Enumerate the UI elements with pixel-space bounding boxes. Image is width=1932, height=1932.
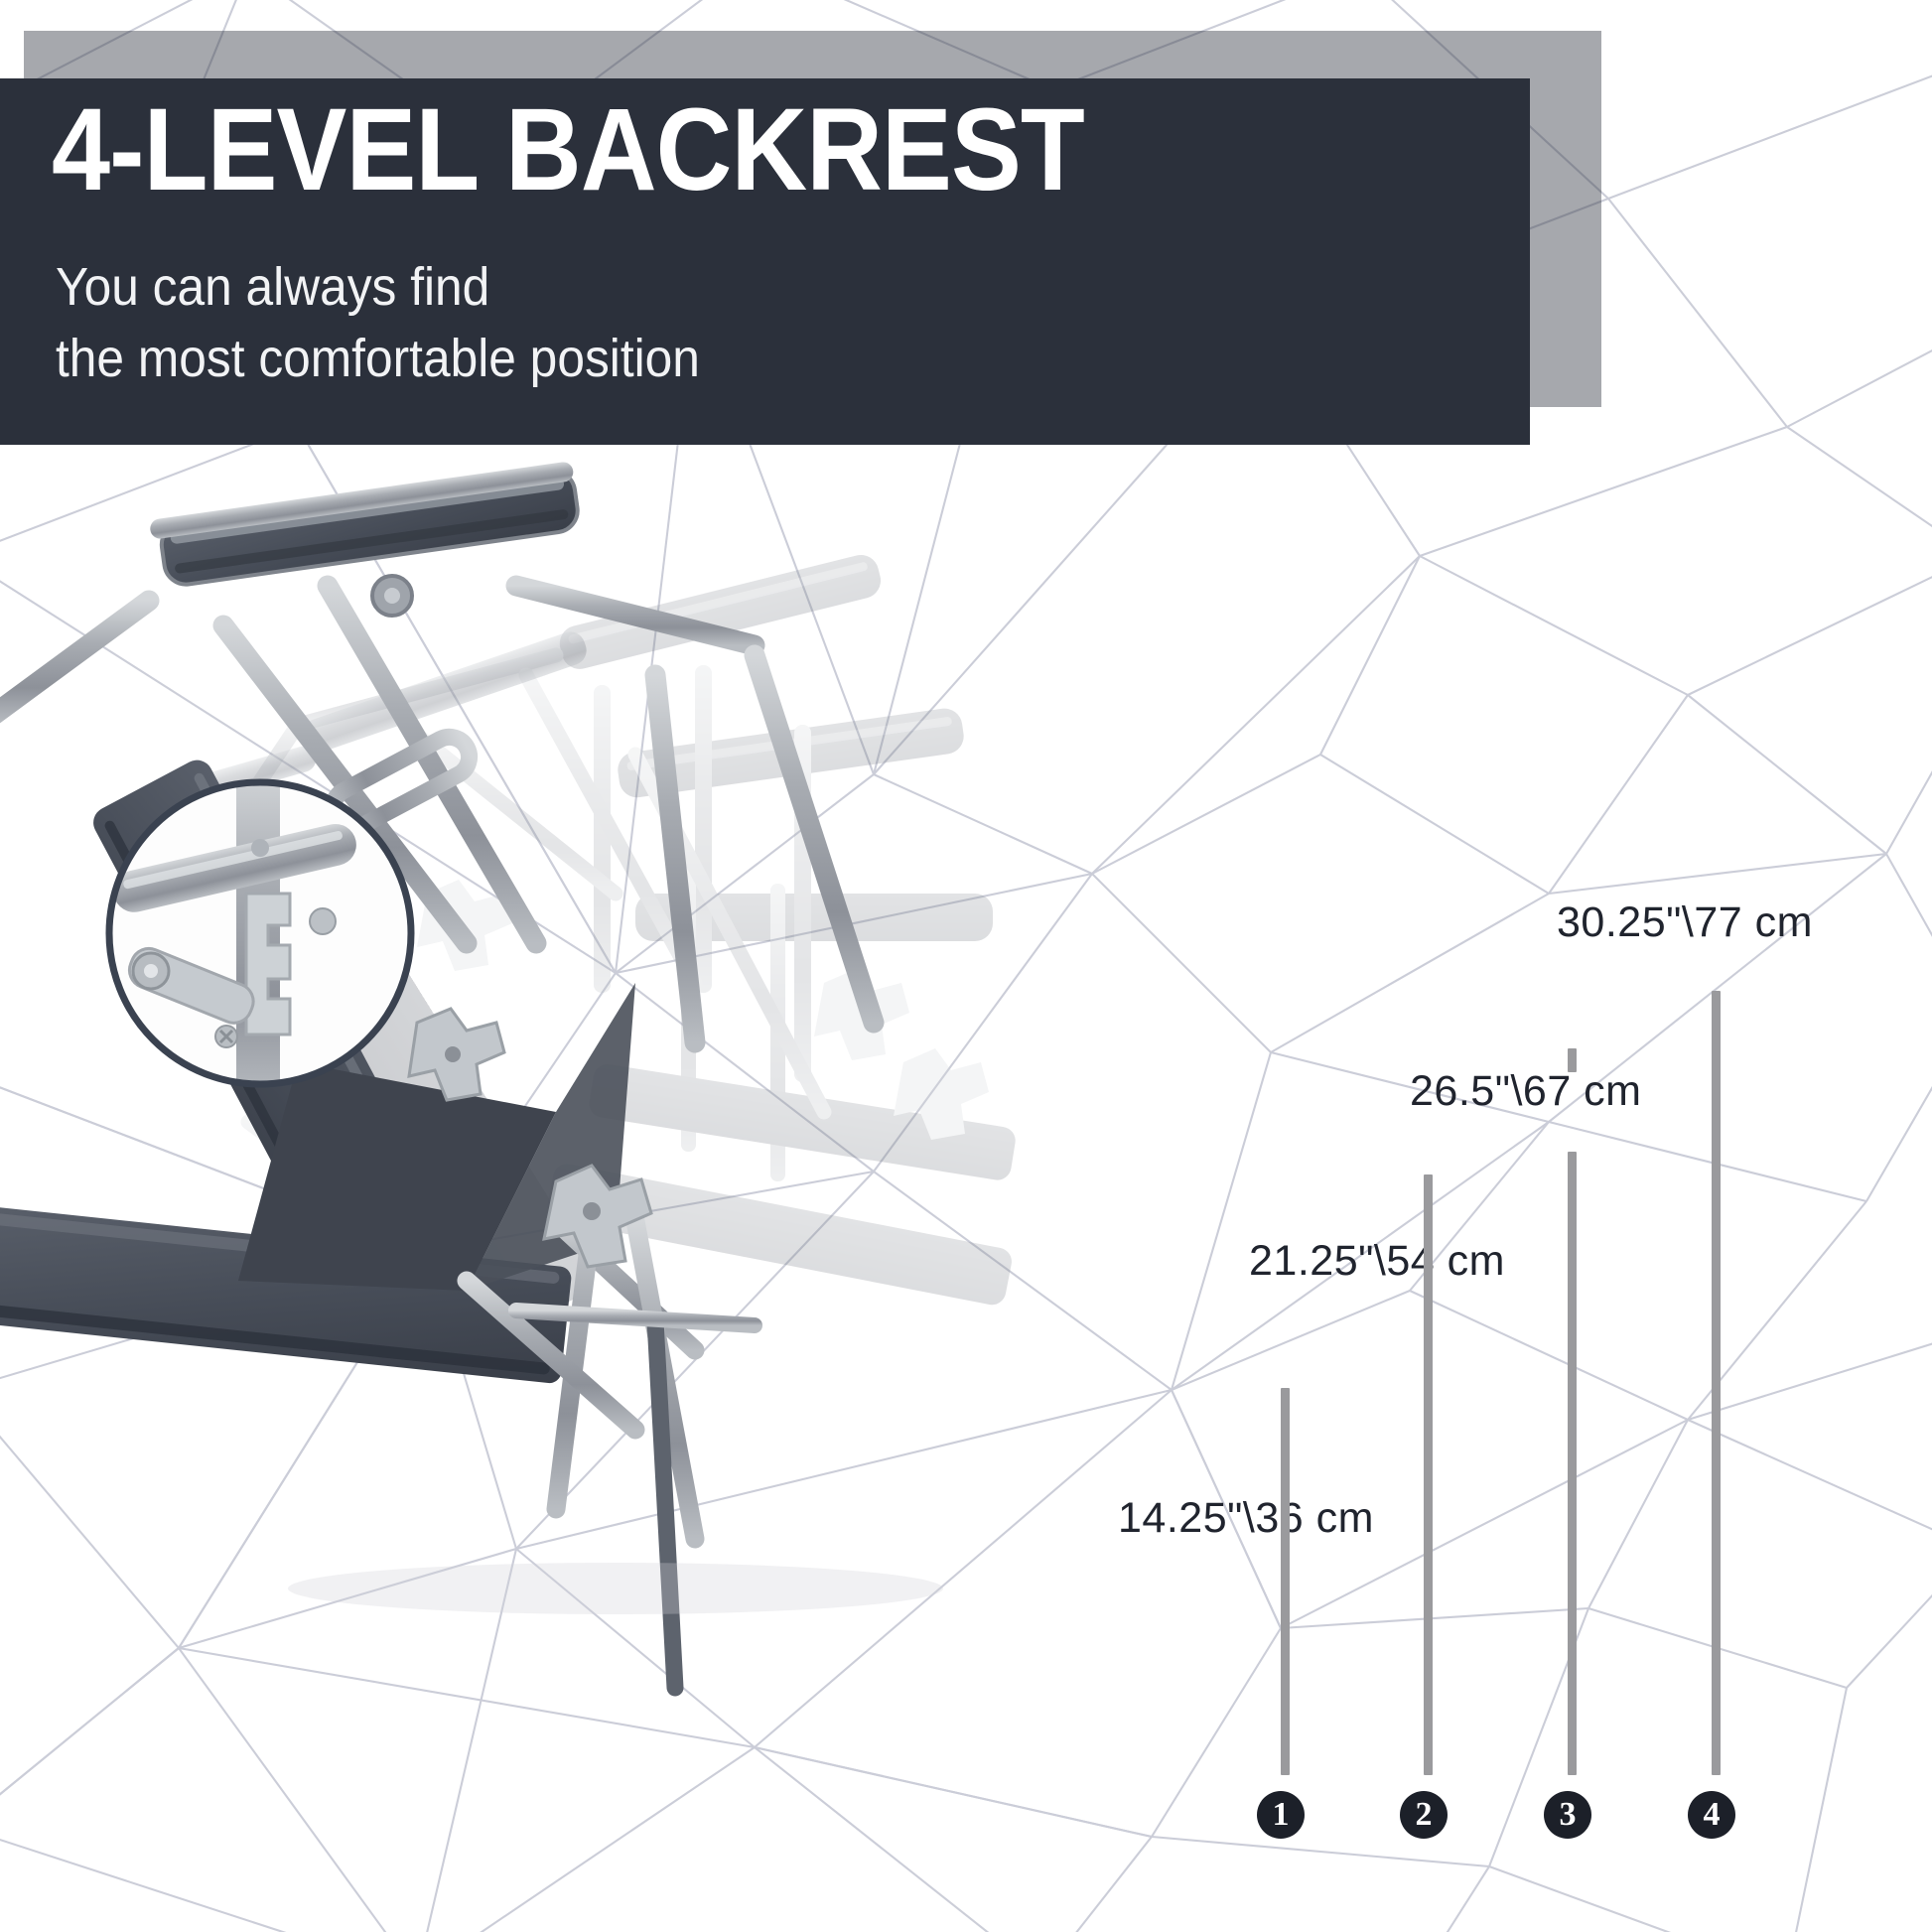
- dimension-tick-2: [1424, 1174, 1433, 1775]
- page-title: 4-LEVEL BACKREST: [52, 91, 1084, 208]
- product-photo-lounge-chair: [0, 427, 1231, 1837]
- dimension-label-4: 30.25"\77 cm: [1557, 901, 1813, 944]
- dimension-tick-4: [1712, 991, 1721, 1775]
- page-subtitle: You can always find the most comfortable…: [56, 251, 700, 394]
- dimension-tick-3: [1568, 1152, 1577, 1775]
- dimension-label-1: 14.25"\36 cm: [1118, 1497, 1374, 1540]
- dimension-badge-2[interactable]: 2: [1400, 1791, 1448, 1839]
- dimension-tick-3-stub: [1568, 1048, 1577, 1072]
- dimension-tick-1: [1281, 1388, 1290, 1775]
- infographic-canvas: 4-LEVEL BACKREST You can always find the…: [0, 0, 1932, 1932]
- dimension-badge-4[interactable]: 4: [1688, 1791, 1735, 1839]
- dimension-badge-1[interactable]: 1: [1257, 1791, 1305, 1839]
- dimension-label-3: 26.5"\67 cm: [1410, 1070, 1642, 1113]
- dimension-label-2: 21.25"\54 cm: [1249, 1240, 1505, 1283]
- dimension-badge-3[interactable]: 3: [1544, 1791, 1591, 1839]
